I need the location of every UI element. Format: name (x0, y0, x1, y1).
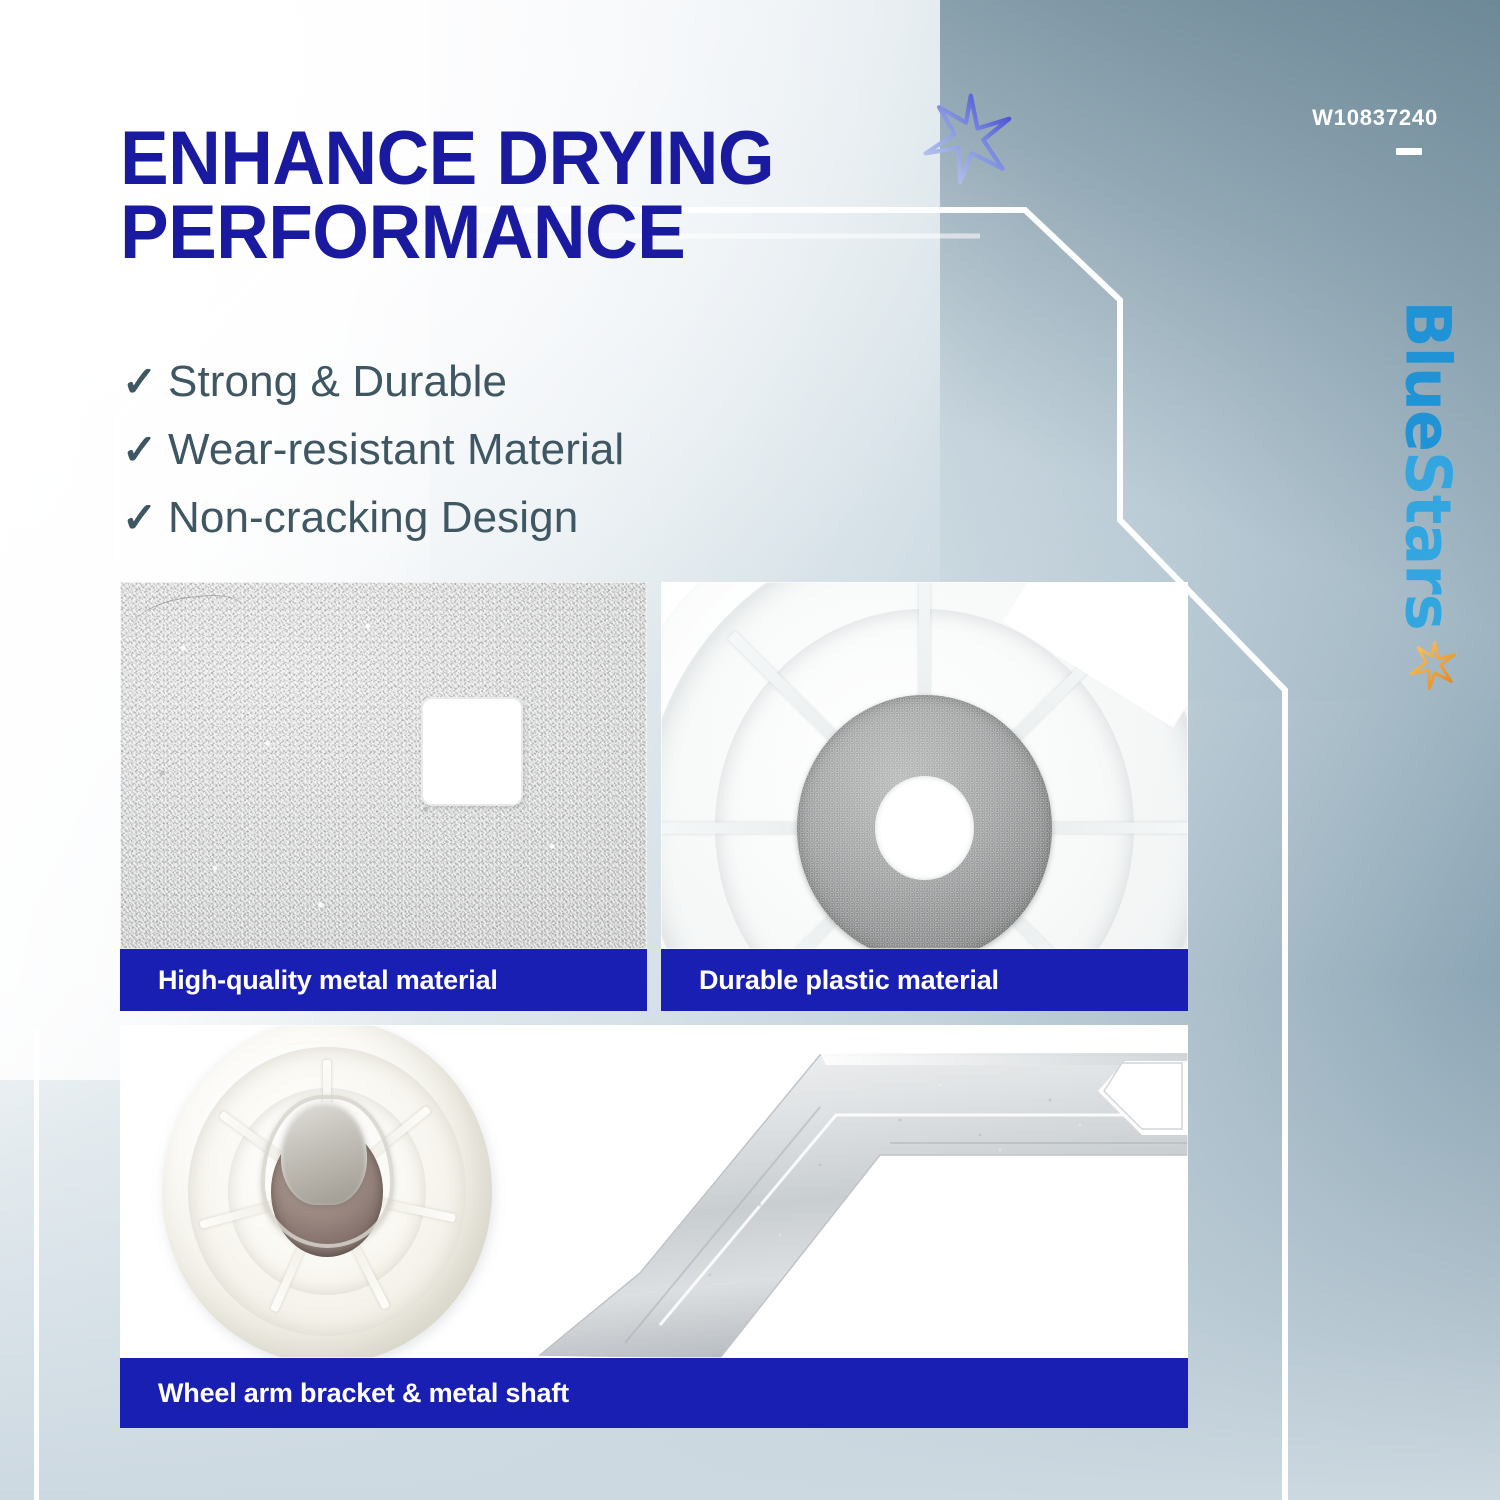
feature-label: Non-cracking Design (168, 493, 578, 543)
check-icon: ✓ (122, 497, 168, 539)
brand-star-icon (1406, 639, 1458, 691)
brand-logo: BlueStars (1384, 255, 1472, 675)
product-feature-graphic: ENHANCE DRYING PERFORMANCE ✓ Strong & Du… (0, 0, 1500, 1500)
page-title: ENHANCE DRYING PERFORMANCE (120, 122, 965, 269)
panel-caption: Durable plastic material (661, 949, 1188, 1011)
part-number: W10837240 (1312, 105, 1438, 131)
feature-panel-grid: High-quality metal material (120, 582, 1188, 1428)
feature-label: Wear-resistant Material (168, 425, 624, 475)
star-icon (918, 90, 1014, 186)
feature-list: ✓ Strong & Durable ✓ Wear-resistant Mate… (122, 348, 624, 552)
panel-metal-material: High-quality metal material (120, 582, 647, 1011)
panel-caption: Wheel arm bracket & metal shaft (120, 1358, 1188, 1428)
list-item: ✓ Non-cracking Design (122, 484, 624, 552)
wheel-arm-bracket-photo (120, 1025, 1188, 1358)
panel-caption: High-quality metal material (120, 949, 647, 1011)
part-number-divider (1396, 148, 1422, 155)
left-vertical-rule (34, 1030, 39, 1500)
brand-name-stars: Stars (1392, 451, 1465, 630)
list-item: ✓ Strong & Durable (122, 348, 624, 416)
plastic-material-photo (661, 582, 1188, 949)
check-icon: ✓ (122, 429, 168, 471)
panel-wheel-arm-bracket: Wheel arm bracket & metal shaft (120, 1025, 1188, 1428)
headline-line-2: PERFORMANCE (120, 196, 965, 270)
check-icon: ✓ (122, 361, 168, 403)
plastic-wheel (162, 1025, 492, 1358)
metal-material-photo (120, 582, 647, 949)
square-hole-cutout (423, 699, 521, 804)
panel-plastic-material: Durable plastic material (661, 582, 1188, 1011)
metal-shaft-cap (281, 1102, 367, 1206)
brand-name-blue: Blue (1392, 300, 1465, 451)
bushing-bore (875, 776, 974, 880)
headline-line-1: ENHANCE DRYING (120, 116, 774, 201)
feature-label: Strong & Durable (168, 357, 507, 407)
list-item: ✓ Wear-resistant Material (122, 416, 624, 484)
